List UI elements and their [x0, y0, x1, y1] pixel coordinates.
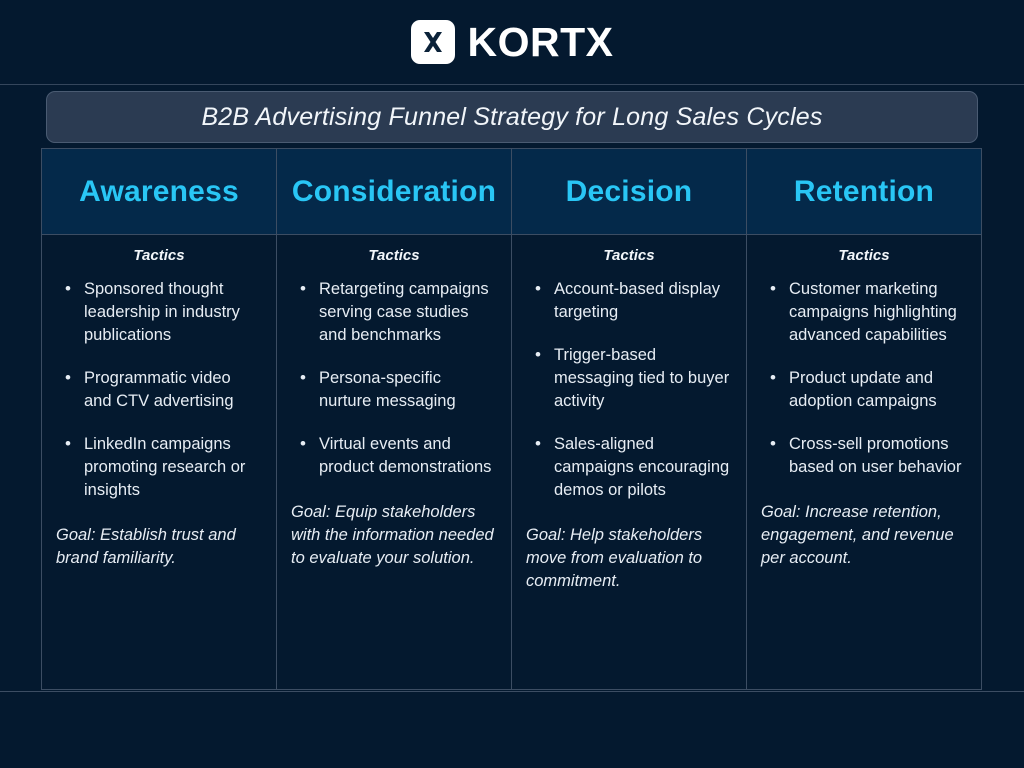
list-item: LinkedIn campaigns promoting research or… — [62, 433, 262, 502]
list-item: Programmatic video and CTV advertising — [62, 367, 262, 413]
goal-text: Goal: Establish trust and brand familiar… — [56, 524, 262, 570]
brand-lockup: KORTX — [411, 20, 614, 64]
list-item: Product update and adoption campaigns — [767, 367, 967, 413]
column-header-retention: Retention — [747, 149, 982, 235]
tactics-list: Retargeting campaigns serving case studi… — [297, 278, 497, 479]
funnel-strategy-table: Awareness Consideration Decision Retenti… — [41, 148, 982, 690]
goal-text: Goal: Help stakeholders move from evalua… — [526, 524, 732, 593]
list-item: Trigger-based messaging tied to buyer ac… — [532, 344, 732, 413]
list-item: Account-based display targeting — [532, 278, 732, 324]
tactics-heading: Tactics — [526, 247, 732, 264]
list-item: Customer marketing campaigns highlightin… — [767, 278, 967, 347]
tactics-heading: Tactics — [761, 247, 967, 264]
list-item: Sponsored thought leadership in industry… — [62, 278, 262, 347]
page-title: B2B Advertising Funnel Strategy for Long… — [201, 103, 822, 132]
tactics-list: Sponsored thought leadership in industry… — [62, 278, 262, 502]
column-header-label: Awareness — [79, 175, 239, 208]
list-item: Persona-specific nurture messaging — [297, 367, 497, 413]
tactics-list: Account-based display targeting Trigger-… — [532, 278, 732, 502]
column-header-consideration: Consideration — [277, 149, 512, 235]
table-body-row: Tactics Sponsored thought leadership in … — [42, 235, 982, 690]
kortx-x-logo-icon — [411, 20, 455, 64]
list-item: Virtual events and product demonstration… — [297, 433, 497, 479]
page-root: KORTX B2B Advertising Funnel Strategy fo… — [0, 0, 1024, 768]
column-header-label: Consideration — [292, 175, 496, 208]
column-cell-awareness: Tactics Sponsored thought leadership in … — [42, 235, 277, 690]
column-header-awareness: Awareness — [42, 149, 277, 235]
column-header-label: Retention — [794, 175, 934, 208]
brand-header: KORTX — [0, 0, 1024, 85]
list-item: Cross-sell promotions based on user beha… — [767, 433, 967, 479]
table-header-row: Awareness Consideration Decision Retenti… — [42, 149, 982, 235]
tactics-list: Customer marketing campaigns highlightin… — [767, 278, 967, 479]
column-header-label: Decision — [566, 175, 693, 208]
column-cell-consideration: Tactics Retargeting campaigns serving ca… — [277, 235, 512, 690]
column-cell-decision: Tactics Account-based display targeting … — [512, 235, 747, 690]
list-item: Sales-aligned campaigns encouraging demo… — [532, 433, 732, 502]
tactics-heading: Tactics — [291, 247, 497, 264]
tactics-heading: Tactics — [56, 247, 262, 264]
column-cell-retention: Tactics Customer marketing campaigns hig… — [747, 235, 982, 690]
page-title-banner: B2B Advertising Funnel Strategy for Long… — [46, 91, 978, 143]
goal-text: Goal: Equip stakeholders with the inform… — [291, 501, 497, 570]
list-item: Retargeting campaigns serving case studi… — [297, 278, 497, 347]
table-bottom-divider — [0, 691, 1024, 692]
goal-text: Goal: Increase retention, engagement, an… — [761, 501, 967, 570]
column-header-decision: Decision — [512, 149, 747, 235]
brand-name: KORTX — [468, 22, 614, 63]
